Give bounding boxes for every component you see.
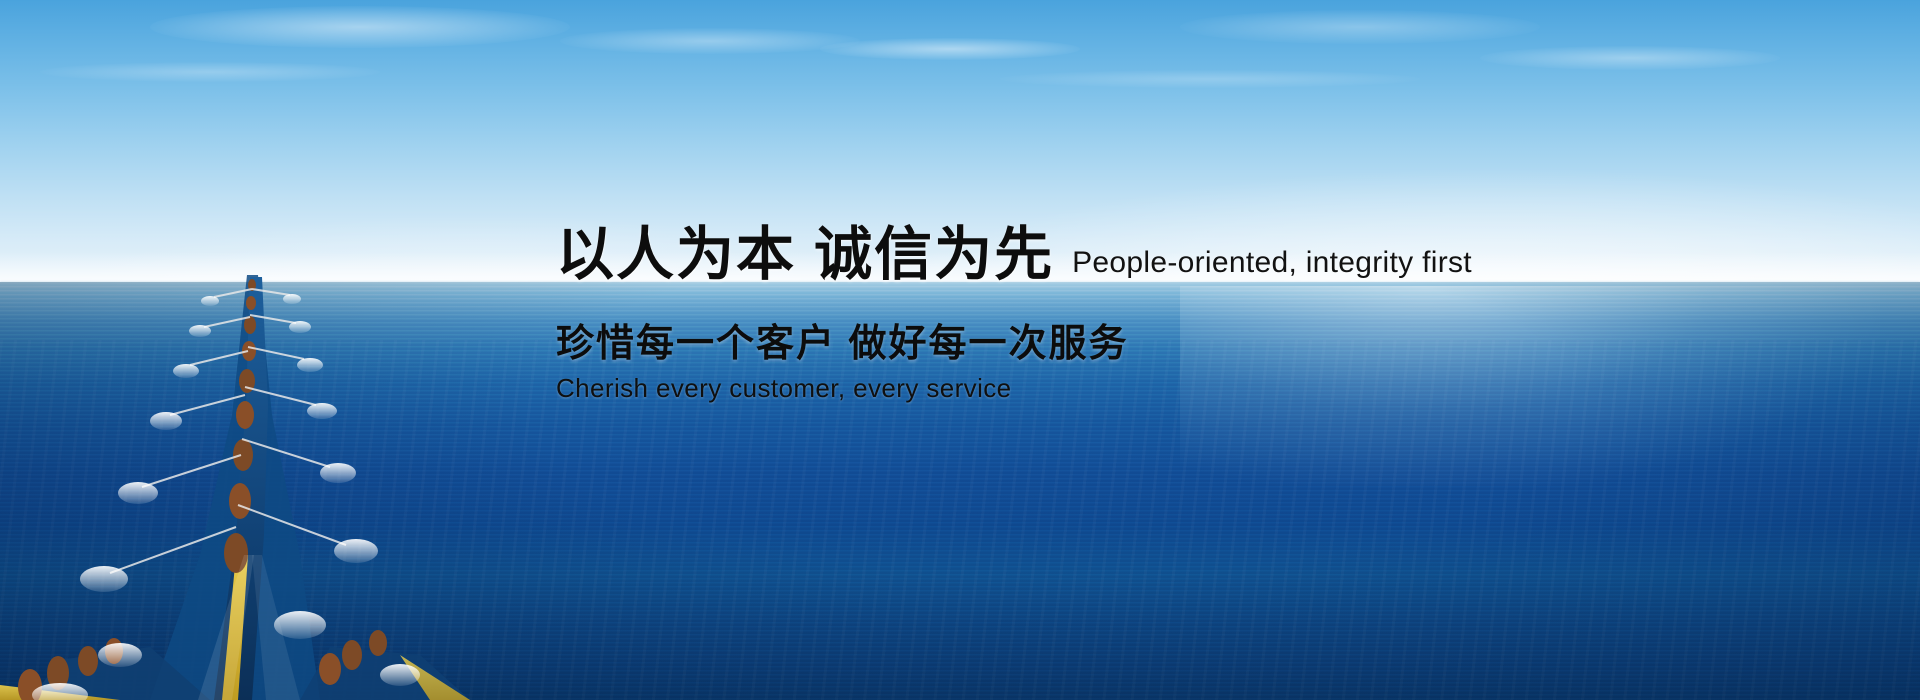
- headline-row: 以人为本 诚信为先 People-oriented, integrity fir…: [556, 225, 1886, 286]
- cloud-wisp: [1000, 70, 1420, 88]
- cloud-wisp: [150, 6, 570, 48]
- cloud-wisp: [1180, 10, 1540, 44]
- headline-chinese: 以人为本 诚信为先: [556, 225, 1054, 286]
- headline-english: People-oriented, integrity first: [1072, 246, 1472, 286]
- banner-copy: 以人为本 诚信为先 People-oriented, integrity fir…: [556, 225, 1886, 404]
- subline-chinese: 珍惜每一个客户 做好每一次服务: [556, 312, 1886, 367]
- cloud-wisp: [560, 28, 860, 54]
- hero-banner: 以人为本 诚信为先 People-oriented, integrity fir…: [0, 0, 1920, 700]
- cloud-wisp: [40, 62, 380, 82]
- subline-english: Cherish every customer, every service: [556, 373, 1886, 404]
- oars: [110, 289, 346, 573]
- cloud-wisp: [820, 38, 1080, 60]
- cloud-wisp: [1480, 46, 1780, 70]
